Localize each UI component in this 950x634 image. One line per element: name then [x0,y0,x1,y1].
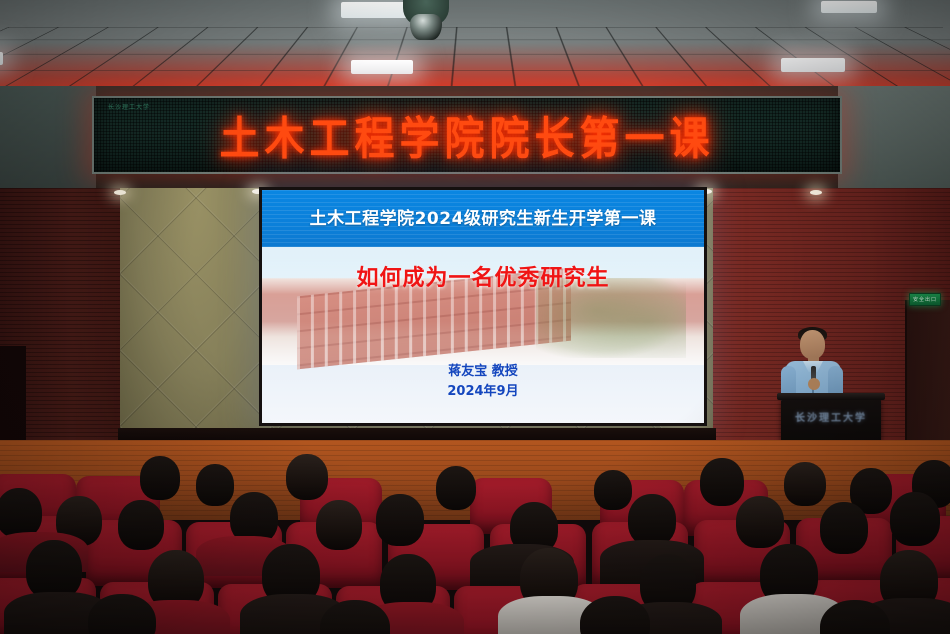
slide-date: 2024年9月 [262,382,704,402]
audience-head [700,458,744,506]
audience-head [118,500,164,550]
slide-title: 土木工程学院2024级研究生新生开学第一课 [262,204,704,229]
dome-camera-icon [403,0,449,26]
wall-spot-light [114,190,126,195]
audience-head [196,464,234,506]
ceiling-light [341,2,411,18]
audience-head [316,500,362,550]
slide-presenter-block: 蒋友宝 教授 2024年9月 [262,362,704,402]
led-banner-text: 土木工程学院院长第一课 [220,103,715,168]
side-door[interactable] [905,300,950,450]
auditorium-scene: 长沙理工大学 土木工程学院院长第一课 安全出口 土木工程学院2024级研究生新生… [0,0,950,634]
slide-headline: 如何成为一名优秀研究生 [262,260,704,292]
wall-spot-light [810,190,822,195]
audience-head [376,494,424,546]
audience-head [26,540,82,600]
stage-baseboard [118,428,716,440]
speaker-hand [808,378,820,390]
led-banner-board: 长沙理工大学 土木工程学院院长第一课 [92,96,842,174]
audience-head [890,492,940,546]
ceiling-light [0,52,3,65]
audience-head [0,488,42,538]
lectern: 长沙理工大学 [781,398,881,442]
audience-head [594,470,632,510]
projected-slide: 土木工程学院2024级研究生新生开学第一课 如何成为一名优秀研究生 蒋友宝 教授… [262,190,704,423]
audience-head [736,496,784,548]
audience-area [0,444,950,634]
wood-panel-left [0,188,120,446]
projection-screen: 土木工程学院2024级研究生新生开学第一课 如何成为一名优秀研究生 蒋友宝 教授… [259,187,707,426]
audience-head [436,466,476,510]
lectern-top-surface [777,393,885,400]
ceiling [0,0,950,95]
ceiling-light [351,60,413,74]
lectern-university-name: 长沙理工大学 [781,409,881,424]
quilted-panel-left [120,188,272,428]
audience-head [820,502,868,554]
speaker-head [800,330,825,359]
led-banner-secondary-text: 长沙理工大学 [108,104,150,113]
upper-wall-left [0,86,96,190]
audience-head [140,456,180,500]
audience-head [286,454,328,500]
upper-wall-right [838,86,950,190]
ceiling-light [781,58,845,72]
audience-head [784,462,826,506]
exit-sign-icon: 安全出口 [909,293,941,306]
audience-head [628,494,676,546]
ceiling-light [821,1,877,13]
slide-presenter-name: 蒋友宝 教授 [262,362,704,382]
exit-sign-label: 安全出口 [913,296,937,303]
